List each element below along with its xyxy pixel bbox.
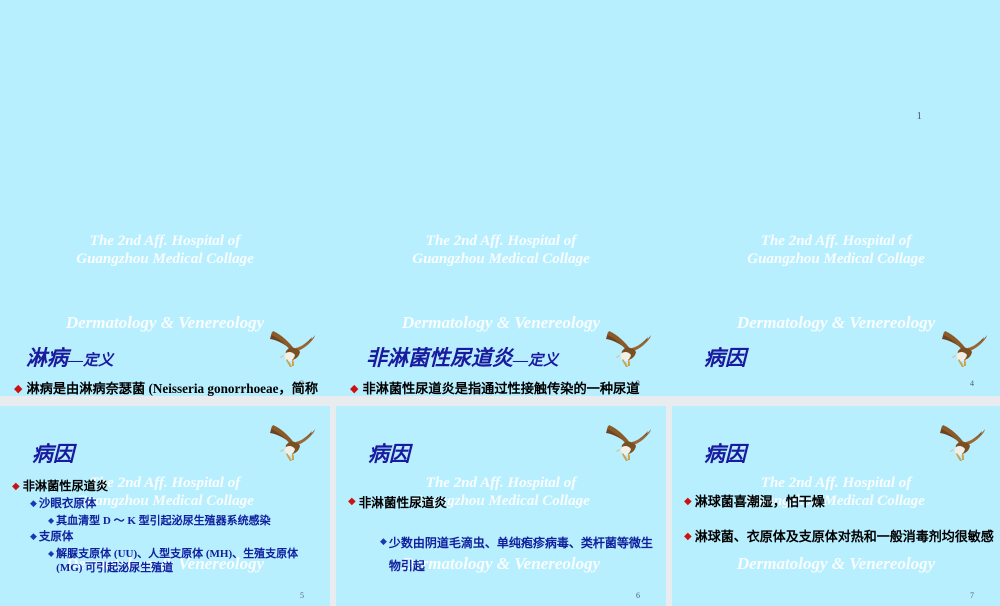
bullet-text: 少数由阴道毛滴虫、单纯疱疹病毒、类杆菌等微生物引起 — [389, 532, 660, 578]
slide-title-main: 病因 — [368, 442, 410, 466]
slide-body: ◆ 淋病是由淋病奈瑟菌 (Neisseria gonorrhoeae，简称淋球菌… — [14, 380, 320, 396]
watermark-dermatology: Dermatology & Venereology — [672, 554, 1000, 574]
flying-eagle-logo — [262, 326, 320, 372]
slide-page-number: 2 — [300, 379, 304, 388]
slide-7[interactable]: The 2nd Aff. Hospital of Guangzhou Medic… — [672, 406, 1000, 606]
watermark-dermatology: Dermatology & Venereology — [0, 313, 330, 333]
slide-page-number: 6 — [636, 591, 640, 600]
watermark-line-2: Guangzhou Medical Collage — [672, 250, 1000, 268]
slide-title-main: 非淋菌性尿道炎 — [366, 346, 513, 370]
bullet-item: ◆ 淋病是由淋病奈瑟菌 (Neisseria gonorrhoeae，简称淋球菌… — [14, 380, 320, 396]
bullet-text: 非淋菌性尿道炎 — [23, 479, 324, 495]
bullet-item: ◆ 沙眼衣原体 — [30, 497, 324, 512]
flying-eagle-logo — [262, 420, 320, 466]
bullet-item: ◆ 其血清型 D ～ K 型引起泌尿生殖器系统感染 — [48, 514, 324, 528]
slide-title-main: 病因 — [704, 346, 746, 370]
bullet-item: ◆ 淋球菌、衣原体及支原体对热和一般消毒剂均很敏感 — [684, 525, 994, 550]
slide-body: ◆ 淋球菌喜潮湿，怕干燥 ◆ 淋球菌、衣原体及支原体对热和一般消毒剂均很敏感 — [684, 490, 994, 549]
slide-title: 病因 — [704, 342, 746, 372]
red-diamond-bullet-icon: ◆ — [348, 497, 356, 507]
watermark-line-1: The 2nd Aff. Hospital of — [336, 232, 666, 250]
bullet-text: 沙眼衣原体 — [39, 497, 324, 512]
bullet-item: ◆ 非淋菌性尿道炎是指通过性接触传染的一种尿道炎，尿道炎症明显，但尿道分泌物中查… — [350, 380, 656, 396]
slide-title-main: 病因 — [704, 442, 746, 466]
blue-diamond-bullet-icon: ◆ — [380, 538, 387, 547]
bullet-item: ◆ 少数由阴道毛滴虫、单纯疱疹病毒、类杆菌等微生物引起 — [380, 532, 660, 578]
flying-eagle-logo — [932, 420, 990, 466]
slide-title: 非淋菌性尿道炎—定义 — [366, 342, 558, 372]
watermark-dermatology: Dermatology & Venereology — [672, 313, 1000, 333]
bullet-item: ◆ 非淋菌性尿道炎 — [348, 494, 660, 512]
watermark-line-1: The 2nd Aff. Hospital of — [0, 232, 330, 250]
watermark-hospital: The 2nd Aff. Hospital of Guangzhou Medic… — [336, 232, 666, 269]
watermark-line-2: Guangzhou Medical Collage — [336, 250, 666, 268]
slide-title: 病因 — [368, 438, 410, 468]
bullet-text: 淋球菌、衣原体及支原体对热和一般消毒剂均很敏感 — [695, 525, 994, 550]
slide-4[interactable]: The 2nd Aff. Hospital of Guangzhou Medic… — [672, 158, 1000, 396]
bullet-item: ◆ 支原体 — [30, 530, 324, 545]
slide-body: ◆ 非淋菌性尿道炎 ◆ 少数由阴道毛滴虫、单纯疱疹病毒、类杆菌等微生物引起 — [348, 494, 660, 578]
slide-6[interactable]: The 2nd Aff. Hospital of Guangzhou Medic… — [336, 406, 666, 606]
bullet-item: ◆ 淋球菌喜潮湿，怕干燥 — [684, 490, 994, 515]
slide-page-number: 4 — [970, 379, 974, 388]
red-diamond-bullet-icon: ◆ — [14, 383, 22, 394]
slide-title-main: 淋病 — [26, 346, 68, 370]
bullet-text: 淋病是由淋病奈瑟菌 (Neisseria gonorrhoeae，简称淋球菌 )… — [26, 380, 320, 396]
slide-title: 病因 — [704, 438, 746, 468]
watermark-line-2: Guangzhou Medical Collage — [0, 250, 330, 268]
red-diamond-bullet-icon: ◆ — [684, 497, 692, 507]
bullet-item: ◆ 非淋菌性尿道炎 — [12, 479, 324, 495]
blue-diamond-bullet-icon: ◆ — [30, 500, 37, 509]
slide-5[interactable]: The 2nd Aff. Hospital of Guangzhou Medic… — [0, 406, 330, 606]
flying-eagle-logo — [598, 420, 656, 466]
bullet-text: 解脲支原体 (UU)、人型支原体 (MH)、生殖支原体 (MG) 可引起泌尿生殖… — [56, 547, 324, 576]
run-text: 淋病是由淋病奈瑟菌 (Neisseria gonorrhoeae，简称淋球菌 )… — [26, 381, 318, 396]
red-diamond-bullet-icon: ◆ — [350, 383, 358, 394]
slide-page-number: 3 — [636, 379, 640, 388]
slide-page-number: 7 — [970, 591, 974, 600]
slide-title-suffix: —定义 — [68, 353, 113, 369]
watermark-line-1: The 2nd Aff. Hospital of — [672, 232, 1000, 250]
slide-page-number: 5 — [300, 591, 304, 600]
slide-3[interactable]: The 2nd Aff. Hospital of Guangzhou Medic… — [336, 158, 666, 396]
watermark-hospital: The 2nd Aff. Hospital of Guangzhou Medic… — [672, 232, 1000, 269]
bullet-text: 非淋菌性尿道炎是指通过性接触传染的一种尿道炎，尿道炎症明显，但尿道分泌物中查不到… — [362, 380, 656, 396]
red-diamond-bullet-icon: ◆ — [12, 482, 20, 492]
bullet-text: 淋球菌喜潮湿，怕干燥 — [695, 490, 994, 515]
watermark-dermatology: Dermatology & Venereology — [336, 313, 666, 333]
blue-diamond-bullet-icon: ◆ — [30, 533, 37, 542]
slide-title: 淋病—定义 — [26, 342, 113, 372]
bullet-text: 其血清型 D ～ K 型引起泌尿生殖器系统感染 — [56, 514, 324, 528]
bullet-item: ◆ 解脲支原体 (UU)、人型支原体 (MH)、生殖支原体 (MG) 可引起泌尿… — [48, 547, 324, 576]
blue-diamond-bullet-icon: ◆ — [48, 517, 54, 525]
blue-diamond-bullet-icon: ◆ — [48, 550, 54, 558]
red-diamond-bullet-icon: ◆ — [684, 532, 692, 542]
bullet-text: 支原体 — [39, 530, 324, 545]
slide-title-suffix: —定义 — [513, 353, 558, 369]
watermark-line-1: The 2nd Aff. Hospital of — [336, 474, 666, 492]
watermark-hospital: The 2nd Aff. Hospital of Guangzhou Medic… — [0, 232, 330, 269]
flying-eagle-logo — [934, 326, 992, 372]
slide-title: 病因 — [32, 438, 74, 468]
slide-body: ◆ 非淋菌性尿道炎 ◆ 沙眼衣原体 ◆ 其血清型 D ～ K 型引起泌尿生殖器系… — [12, 479, 324, 576]
bullet-text: 非淋菌性尿道炎 — [359, 494, 660, 512]
slide-2[interactable]: The 2nd Aff. Hospital of Guangzhou Medic… — [0, 158, 330, 396]
slide-title-main: 病因 — [32, 442, 74, 466]
slide-body: ◆ 非淋菌性尿道炎是指通过性接触传染的一种尿道炎，尿道炎症明显，但尿道分泌物中查… — [350, 380, 656, 396]
slide-page-number: 1 — [917, 110, 923, 122]
flying-eagle-logo — [598, 326, 656, 372]
slide-thumbnail-deck: 1 The 2nd Aff. Hospital of Guangzhou Med… — [0, 0, 1000, 600]
